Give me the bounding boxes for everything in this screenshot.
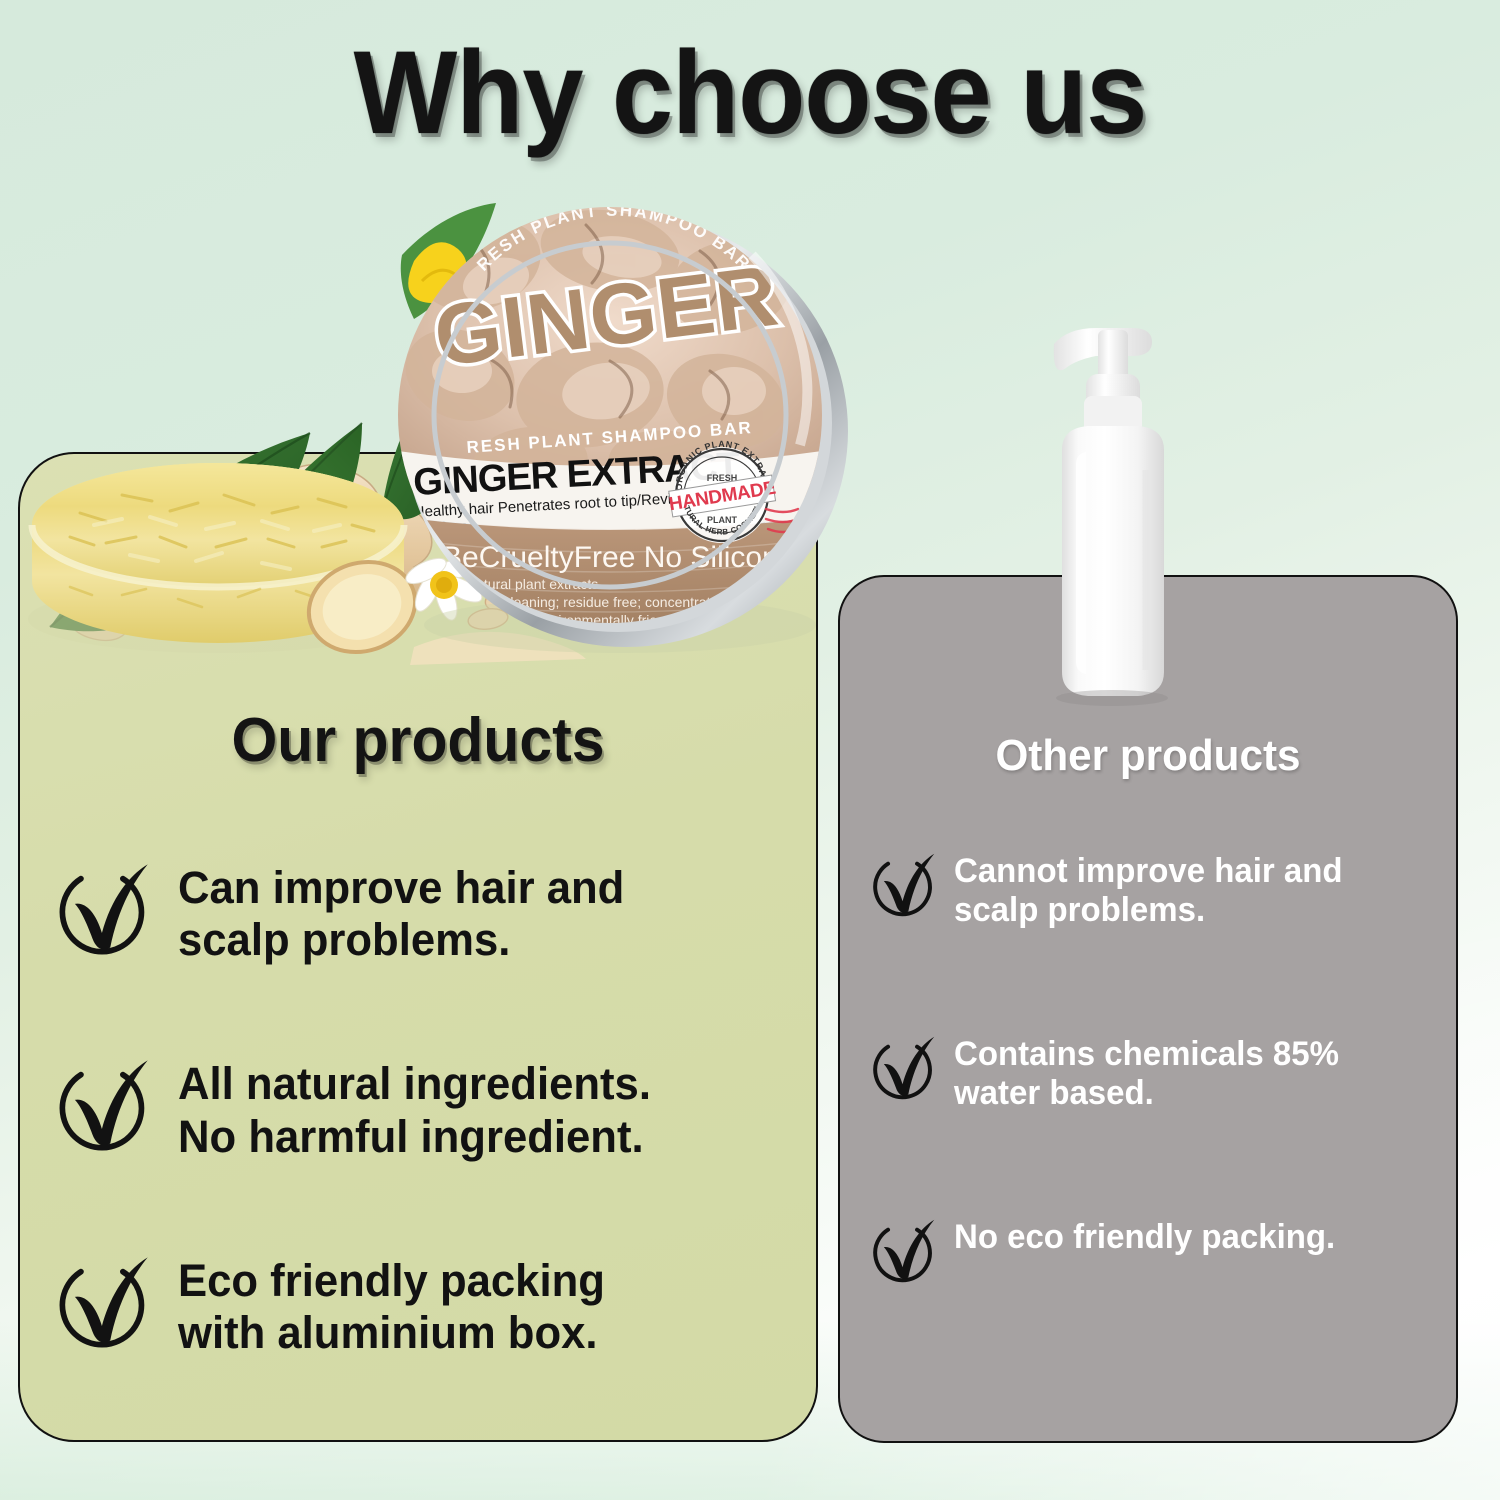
- heading-our-products: Our products: [38, 710, 798, 772]
- bottle-body: [1062, 426, 1164, 696]
- list-item-label: Eco friendly packing with aluminium box.: [178, 1255, 605, 1359]
- list-item: Can improve hair and scalp problems.: [52, 862, 792, 966]
- bullet-list-other-products: Cannot improve hair and scalp problems. …: [868, 852, 1448, 1286]
- check-circle-icon: [52, 856, 156, 960]
- check-circle-icon: [868, 848, 940, 920]
- heading-other-products: Other products: [850, 734, 1445, 778]
- list-item: Contains chemicals 85% water based.: [868, 1035, 1448, 1114]
- list-item: No eco friendly packing.: [868, 1218, 1448, 1286]
- list-item-label: All natural ingredients. No harmful ingr…: [178, 1058, 651, 1162]
- check-circle-icon: [868, 1214, 940, 1286]
- bullet-list-our-products: Can improve hair and scalp problems. All…: [52, 862, 792, 1359]
- other-product-photo: [1032, 300, 1222, 712]
- list-item-label: Contains chemicals 85% water based.: [954, 1035, 1339, 1114]
- check-circle-icon: [52, 1052, 156, 1156]
- our-product-photo: RESH PLANT SHAMPOO BAR GINGER RESH PLANT…: [10, 195, 850, 675]
- check-circle-icon: [52, 1249, 156, 1353]
- svg-text:PLANT: PLANT: [707, 515, 737, 525]
- infographic-canvas: Why choose us: [0, 0, 1500, 1500]
- list-item: Eco friendly packing with aluminium box.: [52, 1255, 792, 1359]
- page-title: Why choose us: [53, 34, 1448, 152]
- check-circle-icon: [868, 1031, 940, 1103]
- list-item: Cannot improve hair and scalp problems.: [868, 852, 1448, 931]
- list-item-label: Cannot improve hair and scalp problems.: [954, 852, 1342, 931]
- list-item-label: No eco friendly packing.: [954, 1218, 1335, 1257]
- list-item-label: Can improve hair and scalp problems.: [178, 862, 624, 966]
- list-item: All natural ingredients. No harmful ingr…: [52, 1058, 792, 1162]
